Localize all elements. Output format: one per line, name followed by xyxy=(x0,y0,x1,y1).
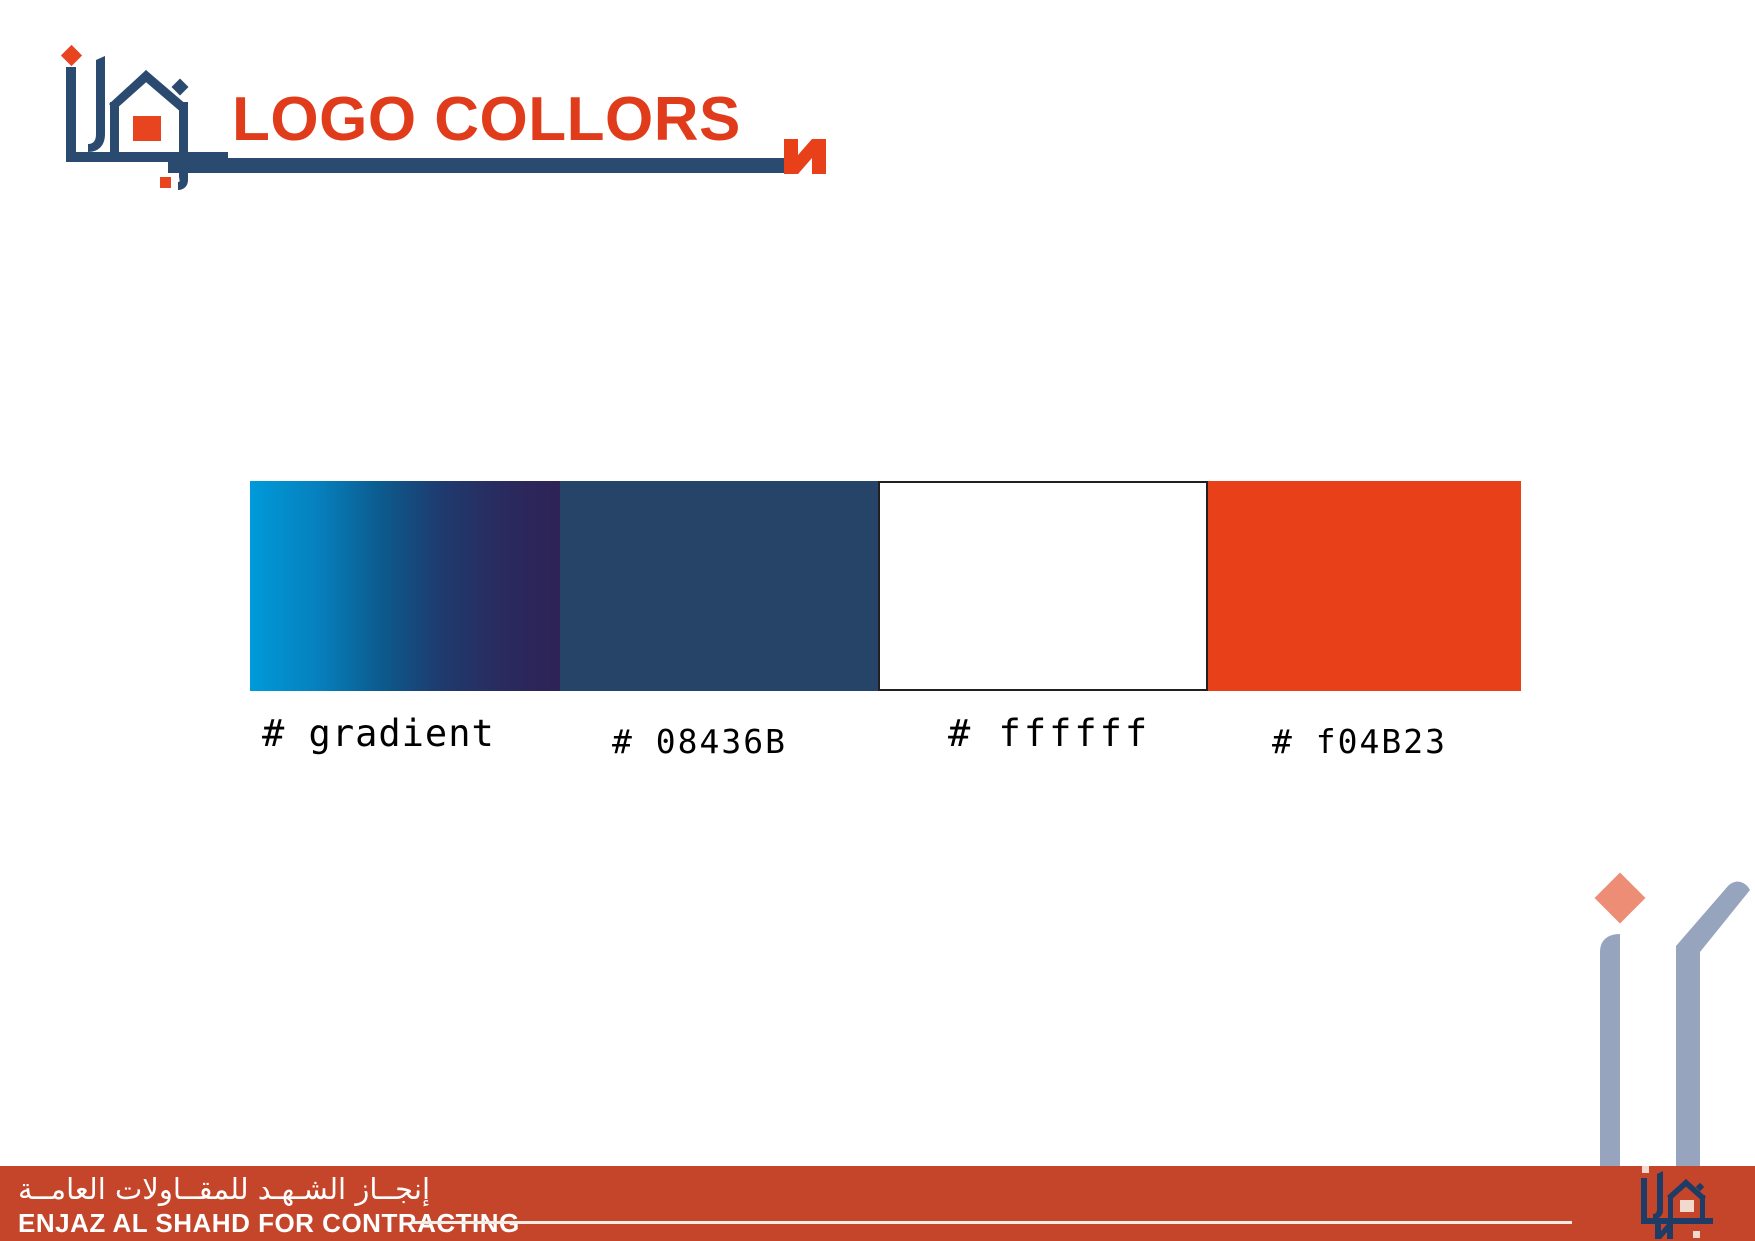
color-swatch-label-gradient: # gradient xyxy=(262,712,495,755)
header-rule-divider xyxy=(168,158,788,173)
color-swatch-label-white: # ffffff xyxy=(948,712,1150,755)
color-swatch-strip xyxy=(250,481,1521,691)
page-title: LOGO COLLORS xyxy=(232,84,741,155)
footer-company-name-arabic: إنجــاز الشـهـد للمقــاولات العامــة xyxy=(18,1172,430,1206)
color-swatch-orange xyxy=(1208,481,1521,691)
color-swatch-navy xyxy=(560,481,878,691)
color-swatch-label-orange: # f04B23 xyxy=(1272,722,1447,761)
color-swatch-white xyxy=(878,481,1208,691)
footer-enjaz-monogram-icon xyxy=(1630,1162,1722,1241)
slide-header: LOGO COLLORS xyxy=(0,0,1755,210)
enjaz-monogram-watermark-icon xyxy=(1580,860,1755,1170)
slide-canvas: LOGO COLLORS # gradient # 08436B # fffff… xyxy=(0,0,1755,1241)
color-swatch-label-navy: # 08436B xyxy=(612,722,787,761)
color-swatch-gradient xyxy=(250,481,560,691)
header-rule-end-icon xyxy=(784,139,826,174)
footer-rule-divider xyxy=(412,1221,1572,1224)
slide-footer: إنجــاز الشـهـد للمقــاولات العامــة ENJ… xyxy=(0,1166,1755,1241)
